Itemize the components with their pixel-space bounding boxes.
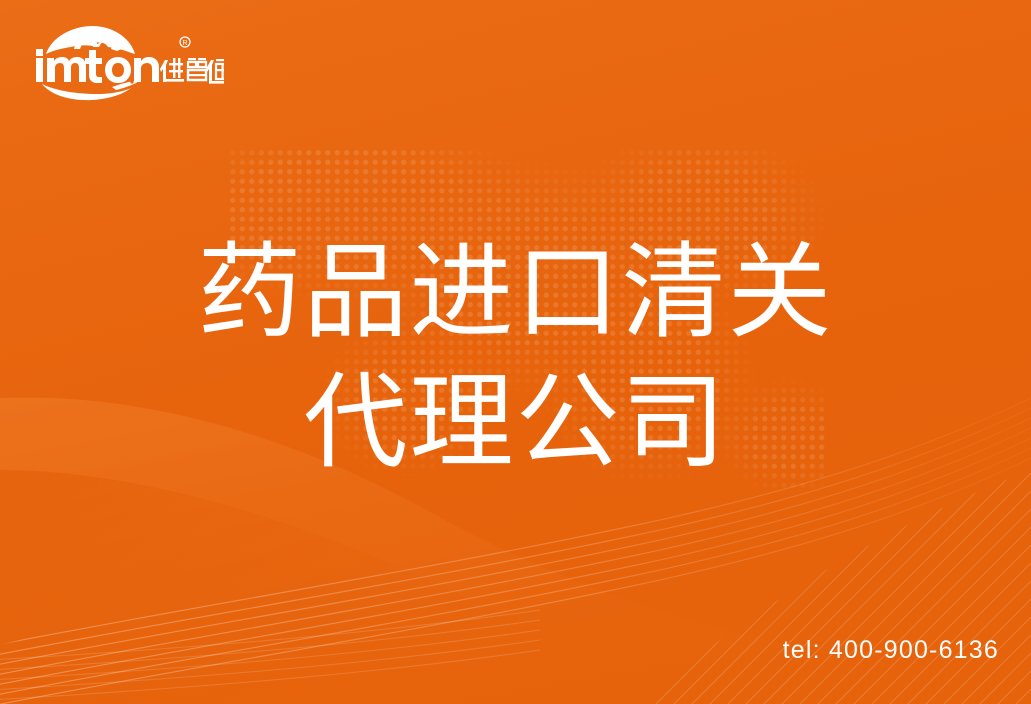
wave-shape-secondary: [0, 470, 1031, 704]
globe-swoosh-logo-icon: R: [34, 24, 224, 102]
headline-line-2: 代理公司: [0, 358, 1031, 488]
brand-logo[interactable]: R: [34, 24, 224, 102]
poster-canvas: R 药品进口清关 代理公司 tel: 400-900-6136: [0, 0, 1031, 704]
contact-telephone: tel: 400-900-6136: [783, 636, 999, 665]
registered-trademark-icon: R: [180, 37, 190, 47]
page-title: 药品进口清关 代理公司: [0, 228, 1031, 488]
headline-line-1: 药品进口清关: [0, 228, 1031, 358]
stripe-band-bottom-left: [0, 610, 540, 700]
svg-text:R: R: [182, 40, 187, 47]
